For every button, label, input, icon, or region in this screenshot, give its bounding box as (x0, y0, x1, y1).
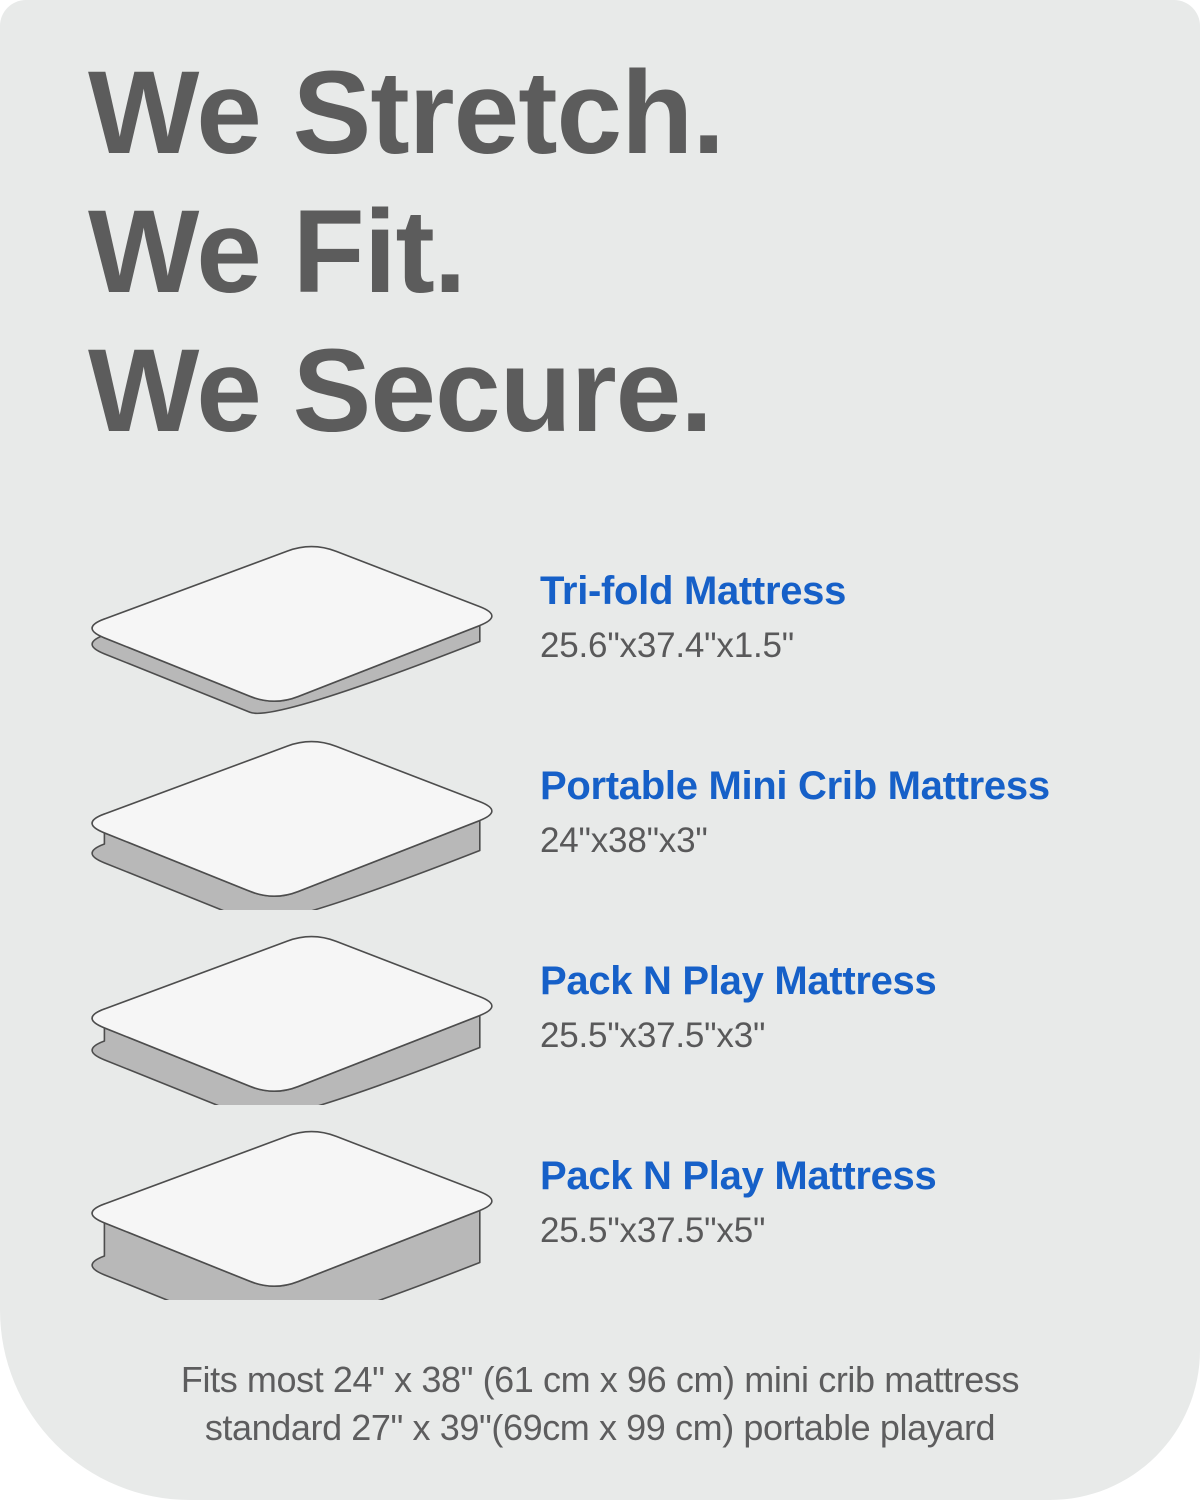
product-illustration (62, 910, 522, 1105)
fit-note-line-1: Fits most 24" x 38" (61 cm x 96 cm) mini… (0, 1356, 1200, 1404)
product-title: Portable Mini Crib Mattress (540, 763, 1050, 809)
product-row: Pack N Play Mattress25.5"x37.5"x3" (0, 910, 1200, 1105)
product-text: Tri-fold Mattress25.6"x37.4"x1.5" (540, 520, 846, 715)
product-row: Portable Mini Crib Mattress24"x38"x3" (0, 715, 1200, 910)
product-dimensions: 25.5"x37.5"x3" (540, 1016, 936, 1056)
product-title: Pack N Play Mattress (540, 1153, 936, 1199)
mattress-isometric-icon (62, 1105, 522, 1300)
page-title: We Stretch. We Fit. We Secure. (88, 44, 724, 462)
product-title: Tri-fold Mattress (540, 568, 846, 614)
product-illustration (62, 715, 522, 910)
product-illustration (62, 1105, 522, 1300)
product-text: Pack N Play Mattress25.5"x37.5"x5" (540, 1105, 936, 1300)
product-text: Portable Mini Crib Mattress24"x38"x3" (540, 715, 1050, 910)
product-row: Tri-fold Mattress25.6"x37.4"x1.5" (0, 520, 1200, 715)
product-dimensions: 25.5"x37.5"x5" (540, 1211, 936, 1251)
product-list: Tri-fold Mattress25.6"x37.4"x1.5"Portabl… (0, 520, 1200, 1300)
headline-line-2: We Fit. (88, 183, 724, 322)
fit-note: Fits most 24" x 38" (61 cm x 96 cm) mini… (0, 1356, 1200, 1451)
product-dimensions: 24"x38"x3" (540, 821, 1050, 861)
content-panel: We Stretch. We Fit. We Secure. Tri-fold … (0, 0, 1200, 1500)
product-text: Pack N Play Mattress25.5"x37.5"x3" (540, 910, 936, 1105)
mattress-isometric-icon (62, 520, 522, 715)
product-dimensions: 25.6"x37.4"x1.5" (540, 626, 846, 666)
headline-line-1: We Stretch. (88, 44, 724, 183)
product-illustration (62, 520, 522, 715)
product-title: Pack N Play Mattress (540, 958, 936, 1004)
headline-line-3: We Secure. (88, 322, 724, 461)
fit-note-line-2: standard 27" x 39"(69cm x 99 cm) portabl… (0, 1404, 1200, 1452)
mattress-isometric-icon (62, 910, 522, 1105)
product-row: Pack N Play Mattress25.5"x37.5"x5" (0, 1105, 1200, 1300)
infographic-page: We Stretch. We Fit. We Secure. Tri-fold … (0, 0, 1200, 1500)
mattress-isometric-icon (62, 715, 522, 910)
